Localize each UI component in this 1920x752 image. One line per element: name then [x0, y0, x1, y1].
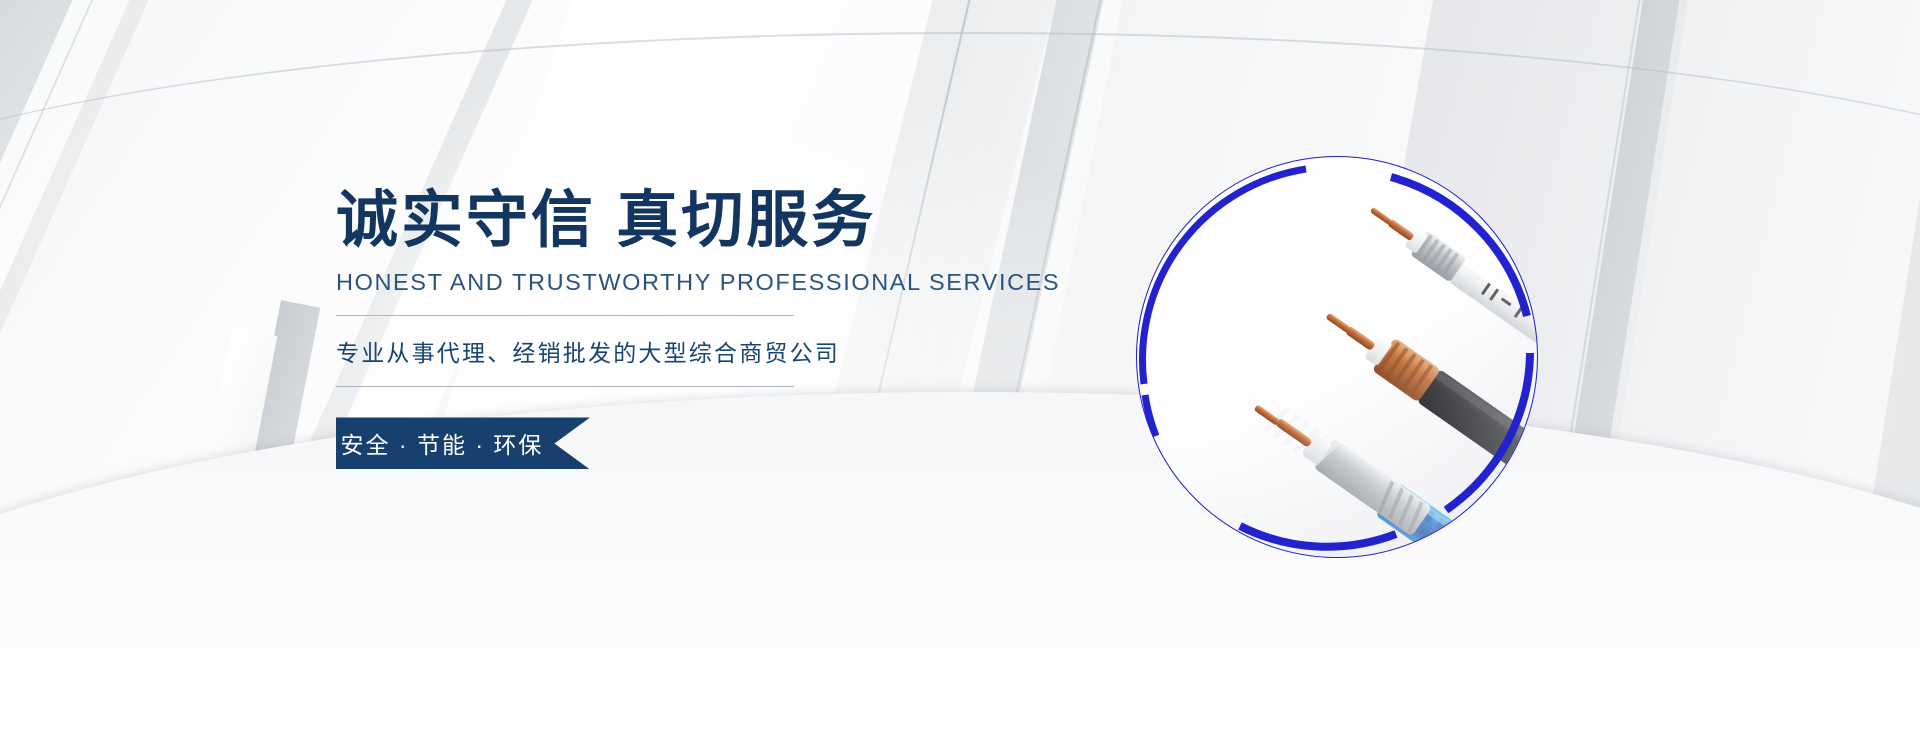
product-photo-disc — [1137, 157, 1537, 557]
banner-description: 专业从事代理、经销批发的大型综合商贸公司 — [336, 334, 956, 368]
diagonal-slab-2 — [0, 0, 205, 752]
diagonal-slab-3 — [0, 0, 263, 752]
divider-bottom — [336, 386, 794, 387]
hairline-4 — [0, 0, 240, 752]
feature-tag[interactable]: 安全 · 节能 · 环保 — [336, 417, 590, 469]
hero-banner: 诚实守信 真切服务 HONEST AND TRUSTWORTHY PROFESS… — [0, 0, 1920, 752]
background-geometry — [0, 0, 1920, 752]
right-slab-3 — [1513, 0, 1920, 752]
floor-post — [175, 328, 277, 631]
banner-content: 诚实守信 真切服务 HONEST AND TRUSTWORTHY PROFESS… — [336, 186, 956, 474]
banner-headline: 诚实守信 真切服务 — [336, 186, 956, 255]
diagonal-slab-1 — [0, 0, 131, 752]
divider-top — [336, 315, 794, 316]
floor-post-shadow — [218, 300, 320, 632]
banner-subhead-english: HONEST AND TRUSTWORTHY PROFESSIONAL SERV… — [336, 269, 956, 296]
product-medallion — [1128, 148, 1546, 566]
feature-tag-label: 安全 · 节能 · 环保 — [336, 417, 548, 469]
curved-floor-edge — [0, 32, 1920, 592]
disc-shading — [1137, 157, 1537, 557]
curved-floor — [0, 392, 1920, 752]
